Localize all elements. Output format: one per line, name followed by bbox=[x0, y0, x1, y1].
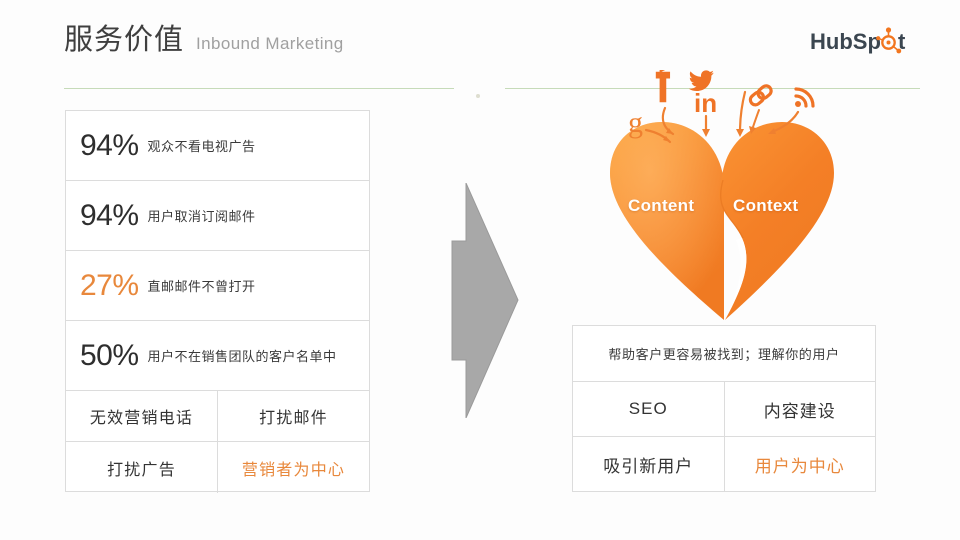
facebook-icon bbox=[656, 70, 673, 134]
transition-arrow-icon bbox=[450, 183, 520, 418]
table-cell: 吸引新用户 bbox=[573, 437, 725, 492]
table-row: SEO 内容建设 bbox=[573, 382, 875, 437]
arrow-rss bbox=[772, 112, 798, 132]
stat-label: 用户取消订阅邮件 bbox=[148, 206, 256, 225]
hubspot-logo: HubSp t bbox=[810, 27, 918, 57]
stat-label: 观众不看电视广告 bbox=[148, 136, 256, 155]
arrow-link bbox=[752, 110, 759, 130]
inbound-benefits-table: 帮助客户更容易被找到；理解你的用户 SEO 内容建设 吸引新用户 用户为中心 bbox=[572, 325, 876, 492]
table-cell: 帮助客户更容易被找到；理解你的用户 bbox=[573, 326, 875, 381]
table-cell: 内容建设 bbox=[725, 382, 876, 436]
svg-text:g: g bbox=[628, 106, 643, 139]
cell-text: 无效营销电话 bbox=[90, 404, 193, 428]
stat-label: 直邮邮件不曾打开 bbox=[148, 276, 256, 295]
stat-label: 用户不在销售团队的客户名单中 bbox=[148, 346, 337, 365]
table-cell: SEO bbox=[573, 382, 725, 436]
stat-value: 94% bbox=[80, 201, 139, 231]
page-title: 服务价值 Inbound Marketing bbox=[64, 26, 344, 55]
table-cell: 无效营销电话 bbox=[66, 391, 218, 441]
table-row: 打扰广告 营销者为中心 bbox=[66, 442, 369, 493]
transition-arrow bbox=[450, 183, 520, 423]
social-icons-group: g in bbox=[620, 70, 840, 160]
slide-root: 服务价值 Inbound Marketing HubSp t 94% bbox=[0, 0, 960, 540]
table-row: 帮助客户更容易被找到；理解你的用户 bbox=[573, 326, 875, 382]
stat-value: 27% bbox=[80, 271, 139, 301]
table-row: 27% 直邮邮件不曾打开 bbox=[66, 251, 369, 321]
rss-icon bbox=[768, 89, 813, 134]
stat-value: 94% bbox=[80, 131, 139, 161]
table-cell: 打扰广告 bbox=[66, 442, 218, 493]
cell-text: SEO bbox=[629, 399, 668, 419]
linkedin-icon: in bbox=[694, 88, 717, 137]
cell-text: 帮助客户更容易被找到；理解你的用户 bbox=[608, 344, 839, 363]
outbound-stats-table: 94% 观众不看电视广告 94% 用户取消订阅邮件 27% 直邮邮件不曾打开 5… bbox=[65, 110, 370, 492]
table-row: 无效营销电话 打扰邮件 bbox=[66, 391, 369, 442]
table-row: 50% 用户不在销售团队的客户名单中 bbox=[66, 321, 369, 391]
title-chinese: 服务价值 bbox=[64, 26, 184, 55]
table-cell: 打扰邮件 bbox=[218, 391, 369, 441]
cell-text: 营销者为中心 bbox=[242, 456, 345, 480]
logo-text-before: HubSp bbox=[810, 29, 881, 54]
cell-text: 打扰邮件 bbox=[259, 404, 328, 428]
svg-text:in: in bbox=[694, 88, 717, 118]
table-row: 94% 用户取消订阅邮件 bbox=[66, 181, 369, 251]
cell-text: 打扰广告 bbox=[107, 456, 176, 480]
heart-label-context: Context bbox=[733, 196, 798, 216]
title-english: Inbound Marketing bbox=[196, 34, 344, 54]
arrow-twitter bbox=[740, 92, 745, 132]
stat-value: 50% bbox=[80, 341, 139, 371]
heart-label-content: Content bbox=[628, 196, 694, 216]
table-cell: 营销者为中心 bbox=[218, 442, 369, 493]
hubspot-logo-mark: HubSp t bbox=[810, 27, 918, 57]
table-row: 吸引新用户 用户为中心 bbox=[573, 437, 875, 492]
link-icon bbox=[748, 84, 773, 134]
cell-text: 内容建设 bbox=[764, 397, 836, 422]
header-divider-left bbox=[64, 88, 454, 89]
table-cell: 用户为中心 bbox=[725, 437, 876, 492]
cell-text: 吸引新用户 bbox=[603, 452, 693, 477]
table-row: 94% 观众不看电视广告 bbox=[66, 111, 369, 181]
cell-text: 用户为中心 bbox=[755, 452, 845, 477]
divider-dot bbox=[476, 94, 480, 98]
